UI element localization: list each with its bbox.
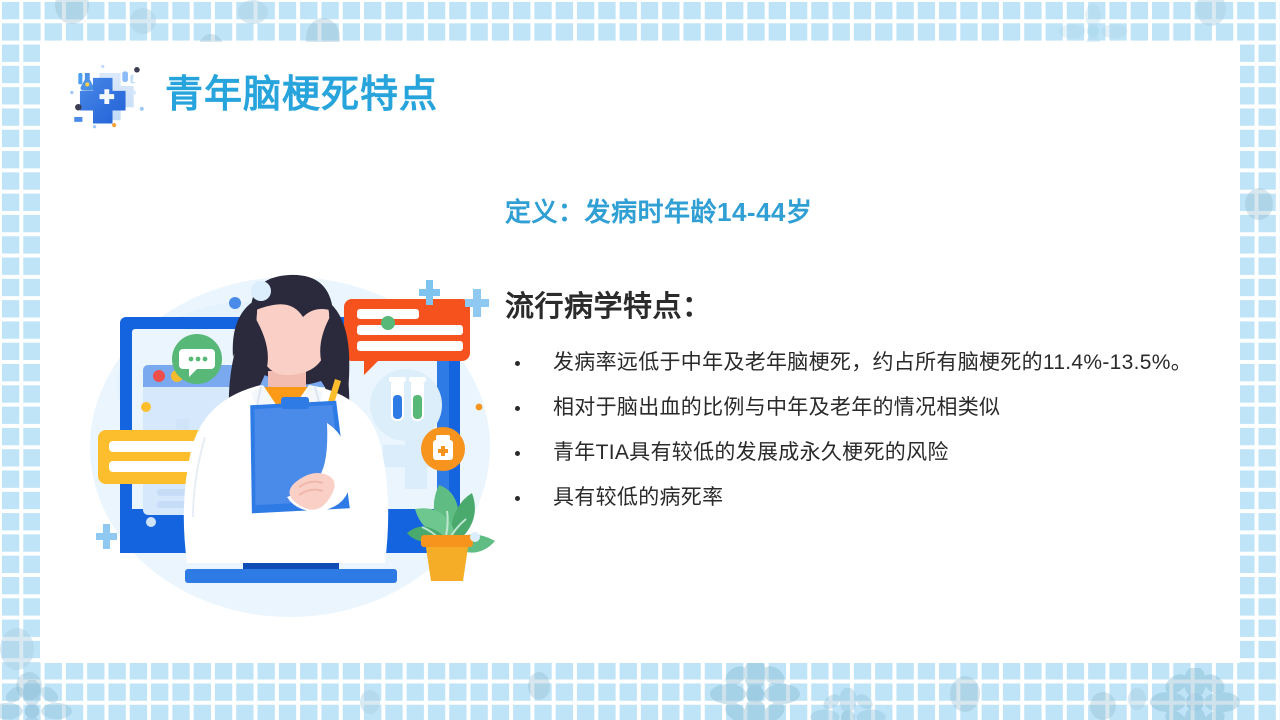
content-column: 定义：发病时年龄14-44岁 流行病学特点： 发病率远低于中年及老年脑梗死，约占… — [505, 197, 1205, 523]
background-blob — [528, 672, 550, 700]
background-blob — [950, 676, 980, 712]
decor-dot — [251, 281, 271, 301]
decor-dot — [476, 404, 483, 411]
background-flower — [700, 660, 810, 720]
decor-dot — [141, 402, 151, 412]
decor-dot — [146, 517, 156, 527]
decor-plus — [96, 524, 117, 549]
definition-line: 定义：发病时年龄14-44岁 — [505, 197, 1205, 228]
page-title: 青年脑梗死特点 — [165, 76, 438, 114]
decor-dot — [229, 297, 241, 309]
background-blob — [0, 628, 34, 670]
medical-cross-icon — [65, 60, 147, 130]
list-item: 发病率远低于中年及老年脑梗死，约占所有脑梗死的11.4%-13.5%。 — [505, 343, 1205, 384]
list-item: 青年TIA具有较低的发展成永久梗死的风险 — [505, 433, 1205, 474]
female-doctor-with-monitor-illustration — [65, 237, 515, 637]
medicine-bottle-badge — [421, 427, 465, 471]
test-tubes-icon — [370, 369, 442, 441]
content-card: 青年脑梗死特点 — [40, 42, 1240, 663]
background-blob — [360, 690, 380, 714]
background-flower — [800, 688, 896, 720]
background-blob — [1245, 188, 1273, 220]
background-flower — [1140, 668, 1250, 720]
list-item: 具有较低的病死率 — [505, 478, 1205, 519]
list-item: 相对于脑出血的比例与中年及老年的情况相类似 — [505, 388, 1205, 429]
decor-dot — [470, 532, 480, 542]
section-heading: 流行病学特点： — [505, 290, 1205, 325]
epidemiology-bullet-list: 发病率远低于中年及老年脑梗死，约占所有脑梗死的11.4%-13.5%。 相对于脑… — [505, 343, 1205, 519]
green-chat-icon — [172, 334, 222, 384]
slide-header: 青年脑梗死特点 — [65, 60, 438, 130]
slide-root: 青年脑梗死特点 — [0, 0, 1280, 720]
background-flower — [0, 680, 82, 720]
decor-dot — [381, 316, 395, 330]
background-blob — [130, 8, 156, 34]
background-blob — [238, 0, 268, 24]
background-blob — [1090, 692, 1116, 720]
